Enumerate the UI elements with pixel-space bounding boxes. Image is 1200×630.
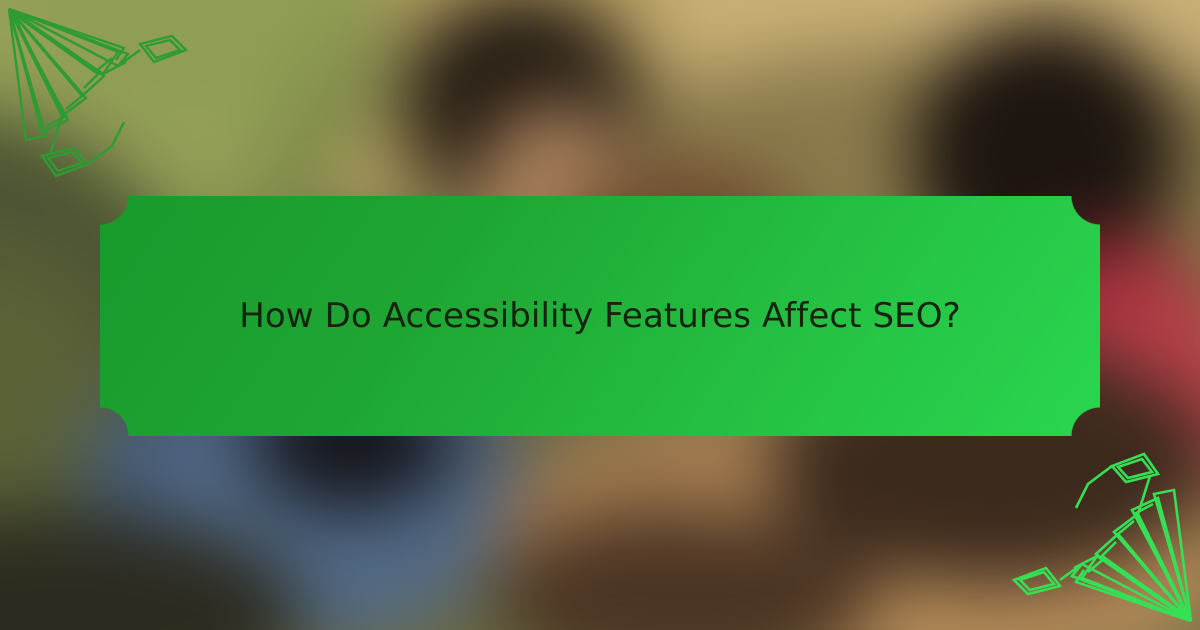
title-card: How Do Accessibility Features Affect SEO…	[100, 196, 1100, 436]
page-title: How Do Accessibility Features Affect SEO…	[199, 295, 1001, 338]
social-share-banner: How Do Accessibility Features Affect SEO…	[0, 0, 1200, 630]
